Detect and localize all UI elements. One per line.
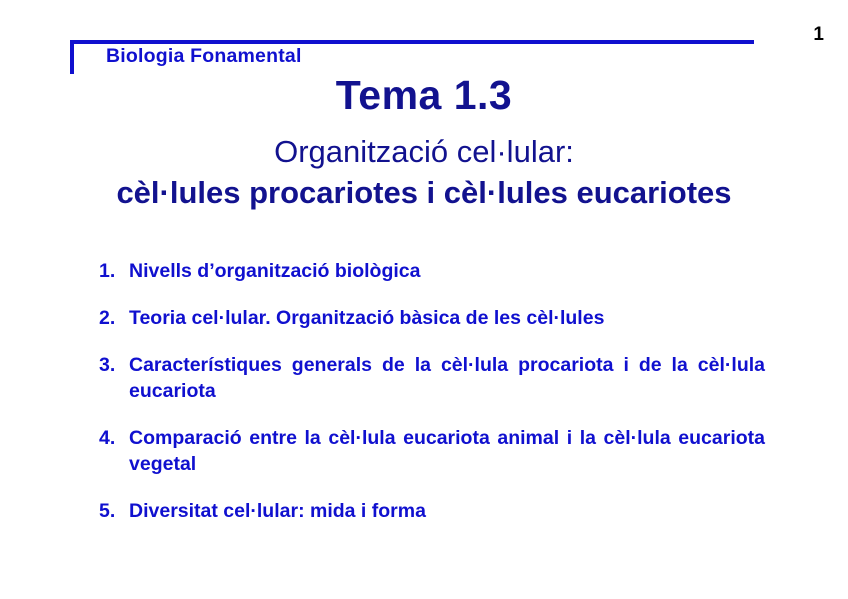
list-item-number: 5. xyxy=(99,498,129,524)
list-item-number: 3. xyxy=(99,352,129,378)
header-accent-bar xyxy=(70,40,74,74)
list-item-label: Teoria cel·lular. Organització bàsica de… xyxy=(129,305,765,331)
page-title: Tema 1.3 xyxy=(0,72,848,119)
list-item: 2. Teoria cel·lular. Organització bàsica… xyxy=(99,305,765,331)
subtitle-line-1: Organització cel·lular: xyxy=(0,132,848,172)
list-item: 3. Característiques generals de la cèl·l… xyxy=(99,352,765,404)
list-item: 1. Nivells d’organització biològica xyxy=(99,258,765,284)
course-title: Biologia Fonamental xyxy=(106,45,302,68)
list-item: 5. Diversitat cel·lular: mida i forma xyxy=(99,498,765,524)
list-item-label: Diversitat cel·lular: mida i forma xyxy=(129,498,765,524)
subtitle-line-2: cèl·lules procariotes i cèl·lules eucari… xyxy=(0,172,848,214)
list-item-label: Comparació entre la cèl·lula eucariota a… xyxy=(129,425,765,477)
list-item-number: 1. xyxy=(99,258,129,284)
list-item-number: 2. xyxy=(99,305,129,331)
list-item: 4. Comparació entre la cèl·lula eucariot… xyxy=(99,425,765,477)
list-item-number: 4. xyxy=(99,425,129,451)
list-item-label: Característiques generals de la cèl·lula… xyxy=(129,352,765,404)
page-number: 1 xyxy=(813,24,824,46)
table-of-contents: 1. Nivells d’organització biològica 2. T… xyxy=(99,258,765,545)
page-subtitle: Organització cel·lular: cèl·lules procar… xyxy=(0,132,848,214)
header-divider-rule xyxy=(70,40,754,44)
list-item-label: Nivells d’organització biològica xyxy=(129,258,765,284)
